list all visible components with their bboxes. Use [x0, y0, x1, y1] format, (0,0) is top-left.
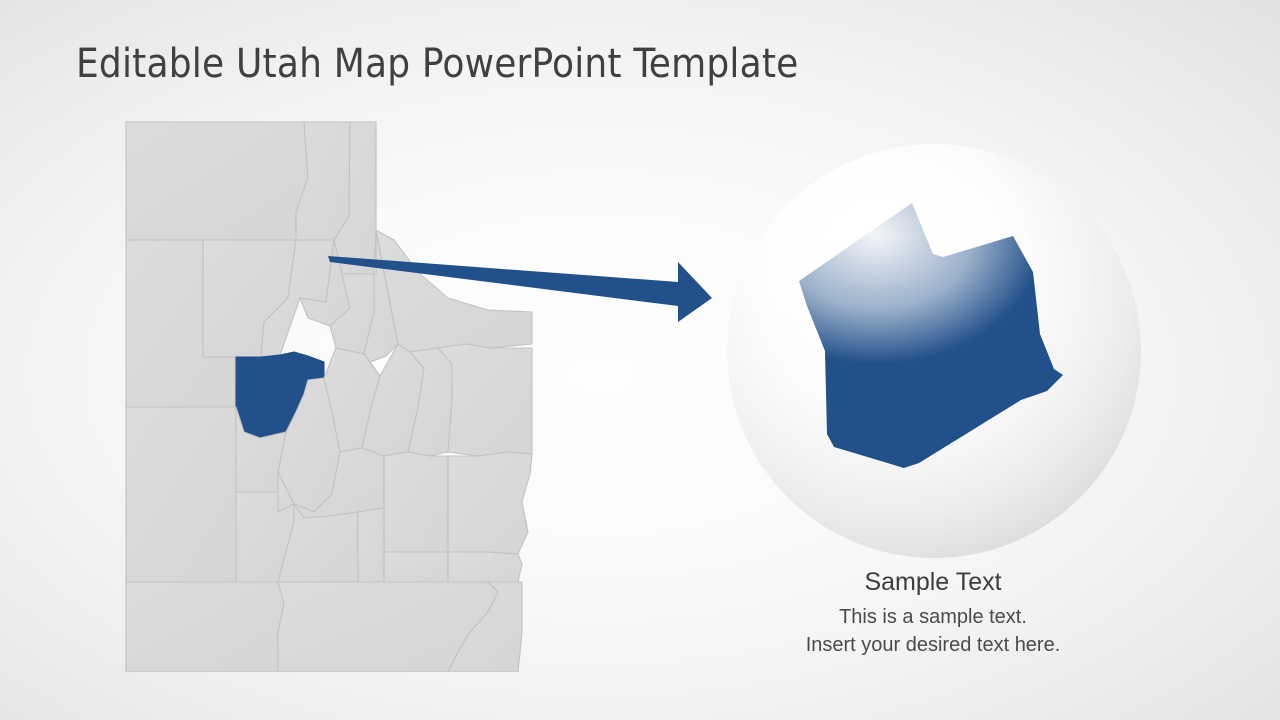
- utah-map[interactable]: [118, 112, 548, 672]
- magnified-salt-lake-county[interactable]: [799, 203, 1063, 468]
- county-uintah[interactable]: [438, 344, 532, 456]
- county-daggett-edge[interactable]: [376, 230, 532, 352]
- county-tooele[interactable]: [126, 407, 236, 582]
- county-carbon-east[interactable]: [384, 452, 448, 552]
- utah-map-svg[interactable]: [118, 112, 548, 672]
- county-emery[interactable]: [384, 552, 448, 582]
- county-grand-north[interactable]: [448, 552, 522, 582]
- county-group: [126, 122, 532, 672]
- magnified-county-svg[interactable]: [727, 144, 1141, 558]
- magnified-county-sphere[interactable]: [727, 144, 1141, 558]
- county-box-elder[interactable]: [126, 122, 308, 240]
- county-millard[interactable]: [126, 582, 284, 672]
- county-uintah-south[interactable]: [448, 452, 532, 554]
- county-emery-west[interactable]: [358, 508, 384, 582]
- page-title: Editable Utah Map PowerPoint Template: [76, 41, 799, 87]
- caption-line-2: Insert your desired text here.: [723, 631, 1143, 659]
- caption-line-1: This is a sample text.: [723, 603, 1143, 631]
- caption-title: Sample Text: [723, 568, 1143, 597]
- slide-canvas: Editable Utah Map PowerPoint Template: [0, 0, 1280, 720]
- caption-block: Sample Text This is a sample text. Inser…: [723, 568, 1143, 660]
